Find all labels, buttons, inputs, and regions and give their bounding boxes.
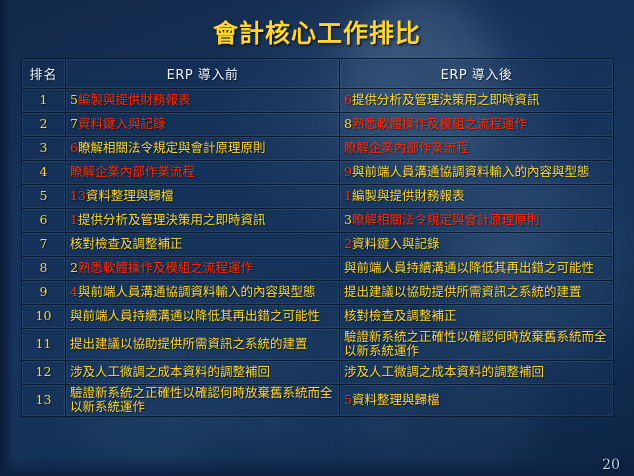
task-label: 瞭解相關法令規定與會計原理原則	[78, 140, 266, 155]
task-label: 瞭解相關法令規定與會計原理原則	[352, 212, 540, 227]
task-label: 熟悉軟體操作及模組之流程運作	[78, 260, 253, 275]
task-label: 與前端人員持續溝通以降低其再出錯之可能性	[70, 308, 320, 323]
rank-number: 10	[22, 305, 66, 329]
page-number: 20	[602, 457, 620, 473]
column-header-before-erp: ERP 導入前	[66, 59, 340, 89]
slide-canvas: 會計核心工作排比 排名 ERP 導入前 ERP 導入後 15編製與提供財務報表6…	[0, 0, 634, 476]
task-after-erp: 驗證新系統之正確性以確認何時放棄舊系統而全以新系統運作	[340, 329, 614, 361]
table-row: 94與前端人員溝通協調資料輸入的內容與型態提出建議以協助提供所需資訊之系統的建置	[22, 281, 614, 305]
table-row: 11提出建議以協助提供所需資訊之系統的建置驗證新系統之正確性以確認何時放棄舊系統…	[22, 329, 614, 361]
table-header-row: 排名 ERP 導入前 ERP 導入後	[22, 59, 614, 89]
table-row: 12涉及人工微調之成本資料的調整補回涉及人工微調之成本資料的調整補回	[22, 361, 614, 385]
task-after-erp: 6提供分析及管理決策用之即時資訊	[340, 89, 614, 113]
task-label: 驗證新系統之正確性以確認何時放棄舊系統而全以新系統運作	[344, 329, 607, 358]
task-after-erp: 涉及人工微調之成本資料的調整補回	[340, 361, 614, 385]
task-before-erp: 與前端人員持續溝通以降低其再出錯之可能性	[66, 305, 340, 329]
rank-number: 2	[22, 113, 66, 137]
column-header-after-erp: ERP 導入後	[340, 59, 614, 89]
task-before-erp: 7資料鍵入與記錄	[66, 113, 340, 137]
table-row: 15編製與提供財務報表6提供分析及管理決策用之即時資訊	[22, 89, 614, 113]
rank-change-marker: 6	[344, 92, 352, 107]
slide-left-edge	[0, 0, 14, 476]
task-label: 編製與提供財務報表	[352, 188, 465, 203]
rank-number: 4	[22, 161, 66, 185]
task-after-erp: 提出建議以協助提供所需資訊之系統的建置	[340, 281, 614, 305]
accounting-task-ranking-table: 排名 ERP 導入前 ERP 導入後 15編製與提供財務報表6提供分析及管理決策…	[21, 58, 614, 417]
table-row: 13驗證新系統之正確性以確認何時放棄舊系統而全以新系統運作5資料整理與歸檔	[22, 385, 614, 417]
rank-change-marker: 1	[344, 188, 352, 203]
task-before-erp: 涉及人工微調之成本資料的調整補回	[66, 361, 340, 385]
task-label: 資料整理與歸檔	[86, 188, 174, 203]
task-label: 提出建議以協助提供所需資訊之系統的建置	[344, 284, 582, 299]
task-after-erp: 2資料鍵入與記錄	[340, 233, 614, 257]
task-after-erp: 3瞭解相關法令規定與會計原理原則	[340, 209, 614, 233]
rank-number: 13	[22, 385, 66, 417]
task-after-erp: 9與前端人員溝通協調資料輸入的內容與型態	[340, 161, 614, 185]
rank-number: 9	[22, 281, 66, 305]
rank-change-marker: 9	[344, 164, 352, 179]
task-label: 驗證新系統之正確性以確認何時放棄舊系統而全以新系統運作	[70, 385, 333, 414]
task-before-erp: 瞭解企業內部作業流程	[66, 161, 340, 185]
task-after-erp: 核對檢查及調整補正	[340, 305, 614, 329]
task-label: 核對檢查及調整補正	[344, 308, 457, 323]
table-body: 15編製與提供財務報表6提供分析及管理決策用之即時資訊27資料鍵入與記錄8熟悉軟…	[22, 89, 614, 417]
task-before-erp: 6瞭解相關法令規定與會計原理原則	[66, 137, 340, 161]
rank-change-marker: 7	[70, 116, 78, 131]
task-label: 涉及人工微調之成本資料的調整補回	[344, 364, 544, 379]
task-before-erp: 核對檢查及調整補正	[66, 233, 340, 257]
task-before-erp: 1提供分析及管理決策用之即時資訊	[66, 209, 340, 233]
task-label: 提供分析及管理決策用之即時資訊	[78, 212, 266, 227]
task-after-erp: 8熟悉軟體操作及模組之流程運作	[340, 113, 614, 137]
table-row: 513資料整理與歸檔1編製與提供財務報表	[22, 185, 614, 209]
task-after-erp: 5資料整理與歸檔	[340, 385, 614, 417]
task-label: 瞭解企業內部作業流程	[344, 140, 469, 155]
column-header-rank: 排名	[22, 59, 66, 89]
rank-change-marker: 6	[70, 140, 78, 155]
task-before-erp: 提出建議以協助提供所需資訊之系統的建置	[66, 329, 340, 361]
table-row: 4瞭解企業內部作業流程9與前端人員溝通協調資料輸入的內容與型態	[22, 161, 614, 185]
rank-number: 6	[22, 209, 66, 233]
task-label: 與前端人員溝通協調資料輸入的內容與型態	[352, 164, 590, 179]
task-before-erp: 驗證新系統之正確性以確認何時放棄舊系統而全以新系統運作	[66, 385, 340, 417]
task-before-erp: 5編製與提供財務報表	[66, 89, 340, 113]
slide-bottom-edge	[0, 458, 634, 476]
task-label: 提出建議以協助提供所需資訊之系統的建置	[70, 336, 308, 351]
table-row: 10與前端人員持續溝通以降低其再出錯之可能性核對檢查及調整補正	[22, 305, 614, 329]
rank-change-marker: 1	[70, 212, 78, 227]
task-label: 與前端人員溝通協調資料輸入的內容與型態	[78, 284, 316, 299]
table-header: 排名 ERP 導入前 ERP 導入後	[22, 59, 614, 89]
task-label: 編製與提供財務報表	[78, 92, 191, 107]
rank-number: 1	[22, 89, 66, 113]
rank-change-marker: 8	[344, 116, 352, 131]
task-label: 提供分析及管理決策用之即時資訊	[352, 92, 540, 107]
rank-number: 8	[22, 257, 66, 281]
table-row: 7核對檢查及調整補正2資料鍵入與記錄	[22, 233, 614, 257]
rank-number: 12	[22, 361, 66, 385]
slide-title: 會計核心工作排比	[0, 21, 634, 46]
rank-change-marker: 3	[344, 212, 352, 227]
rank-change-marker: 5	[70, 92, 78, 107]
table-row: 27資料鍵入與記錄8熟悉軟體操作及模組之流程運作	[22, 113, 614, 137]
task-label: 資料鍵入與記錄	[78, 116, 166, 131]
comparison-table-wrapper: 排名 ERP 導入前 ERP 導入後 15編製與提供財務報表6提供分析及管理決策…	[21, 58, 613, 417]
table-row: 36瞭解相關法令規定與會計原理原則瞭解企業內部作業流程	[22, 137, 614, 161]
rank-number: 3	[22, 137, 66, 161]
rank-change-marker: 5	[344, 392, 352, 407]
table-row: 82熟悉軟體操作及模組之流程運作與前端人員持續溝通以降低其再出錯之可能性	[22, 257, 614, 281]
task-label: 核對檢查及調整補正	[70, 236, 183, 251]
rank-number: 5	[22, 185, 66, 209]
rank-change-marker: 2	[344, 236, 352, 251]
task-before-erp: 2熟悉軟體操作及模組之流程運作	[66, 257, 340, 281]
task-after-erp: 1編製與提供財務報表	[340, 185, 614, 209]
task-label: 涉及人工微調之成本資料的調整補回	[70, 364, 270, 379]
table-row: 61提供分析及管理決策用之即時資訊3瞭解相關法令規定與會計原理原則	[22, 209, 614, 233]
rank-change-marker: 13	[70, 188, 86, 203]
task-before-erp: 4與前端人員溝通協調資料輸入的內容與型態	[66, 281, 340, 305]
rank-change-marker: 4	[70, 284, 78, 299]
task-label: 熟悉軟體操作及模組之流程運作	[352, 116, 527, 131]
task-label: 資料鍵入與記錄	[352, 236, 440, 251]
task-after-erp: 與前端人員持續溝通以降低其再出錯之可能性	[340, 257, 614, 281]
task-label: 與前端人員持續溝通以降低其再出錯之可能性	[344, 260, 594, 275]
rank-change-marker: 2	[70, 260, 78, 275]
task-label: 資料整理與歸檔	[352, 392, 440, 407]
task-after-erp: 瞭解企業內部作業流程	[340, 137, 614, 161]
rank-number: 7	[22, 233, 66, 257]
rank-number: 11	[22, 329, 66, 361]
task-before-erp: 13資料整理與歸檔	[66, 185, 340, 209]
task-label: 瞭解企業內部作業流程	[70, 164, 195, 179]
